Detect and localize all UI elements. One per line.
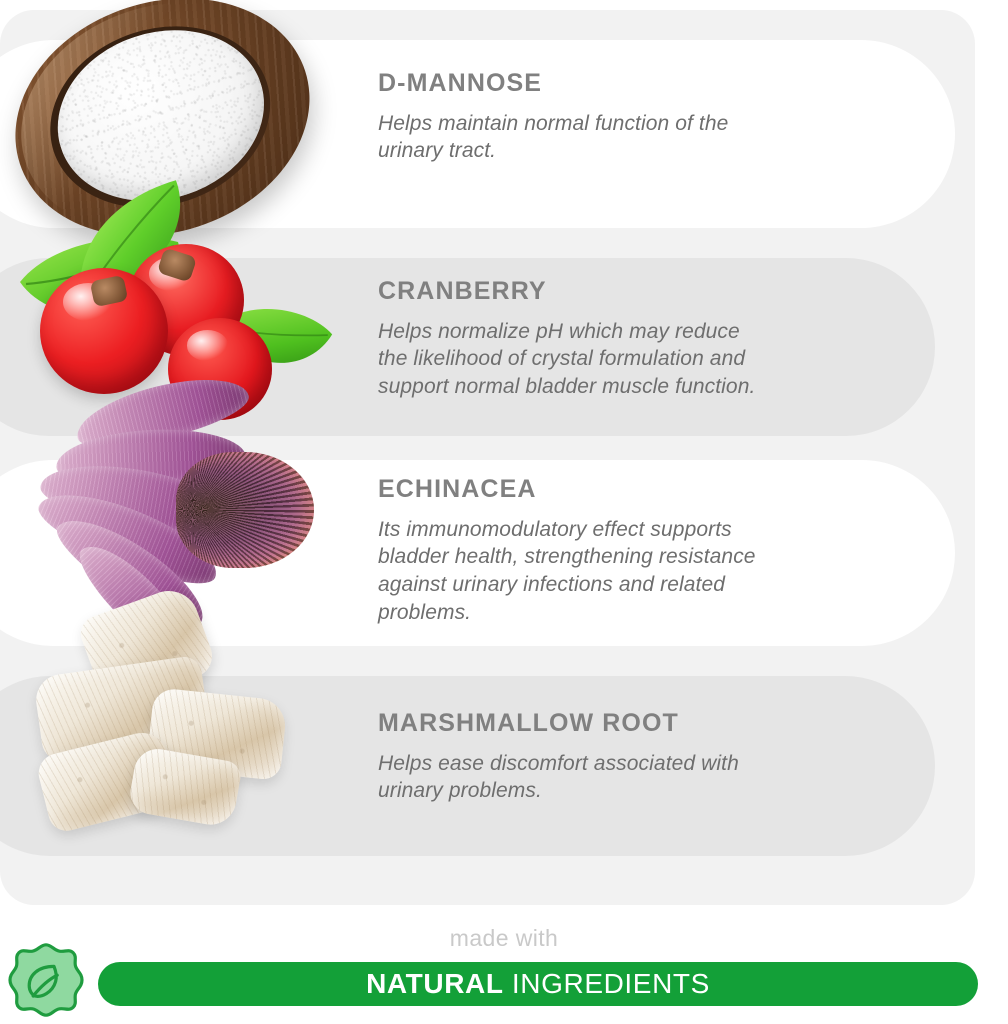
ingredient-text-cranberry: CRANBERRY Helps normalize pH which may r… (378, 278, 755, 401)
infographic-stage: D-MANNOSE Helps maintain normal function… (0, 0, 1008, 1024)
ingredient-description: Helps ease discomfort associated with ur… (378, 750, 739, 806)
ingredient-description: Its immunomodulatory effect supports bla… (378, 516, 756, 628)
natural-ingredients-banner[interactable]: NATURAL INGREDIENTS (98, 962, 978, 1006)
ingredient-description: Helps maintain normal function of the ur… (378, 110, 728, 166)
ingredient-text-d-mannose: D-MANNOSE Helps maintain normal function… (378, 70, 728, 165)
ingredient-title: MARSHMALLOW ROOT (378, 710, 739, 738)
echinacea-cone-spikes (176, 452, 314, 568)
banner-label: NATURAL INGREDIENTS (366, 968, 710, 1000)
ingredient-text-marshmallow-root: MARSHMALLOW ROOT Helps ease discomfort a… (378, 710, 739, 805)
made-with-label: made with (0, 925, 1008, 952)
banner-strong-text: NATURAL (366, 968, 503, 999)
ingredient-description: Helps normalize pH which may reduce the … (378, 318, 755, 402)
ingredient-title: ECHINACEA (378, 476, 756, 504)
ingredient-title: D-MANNOSE (378, 70, 728, 98)
ingredient-title: CRANBERRY (378, 278, 755, 306)
leaf-badge-icon (6, 940, 86, 1020)
banner-light-text: INGREDIENTS (504, 968, 710, 999)
ingredient-text-echinacea: ECHINACEA Its immunomodulatory effect su… (378, 476, 756, 627)
ingredient-imagery (0, 0, 360, 880)
